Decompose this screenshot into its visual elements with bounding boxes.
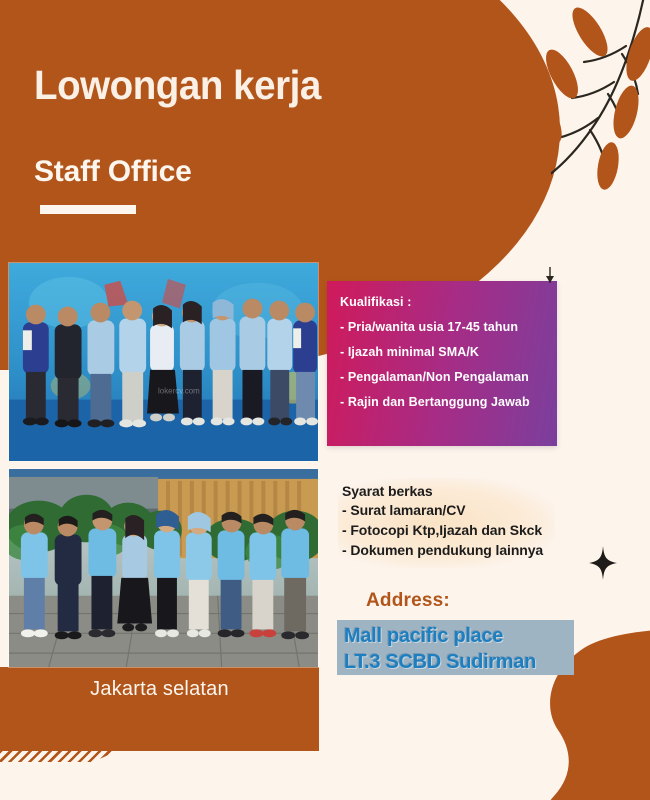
sparkle-icon <box>588 546 618 580</box>
pin-marker-icon <box>545 267 555 283</box>
documents-panel: Syarat berkas - Surat lamaran/CV - Fotoc… <box>338 478 555 568</box>
document-item-1: - Surat lamaran/CV <box>342 501 543 521</box>
job-poster: Lowongan kerja Staff Office <box>0 0 650 800</box>
group-photo-indoor: lokercv.com <box>8 262 319 462</box>
group-photo-outdoor <box>8 468 319 668</box>
address-line-1: Mall pacific place <box>344 624 567 650</box>
address-line-2: LT.3 SCBD Sudirman <box>344 650 567 676</box>
leaf-branch-icon <box>526 0 650 209</box>
address-label: Address: <box>366 590 450 612</box>
qualifications-heading: Kualifikasi : <box>340 295 545 309</box>
document-item-3: - Dokumen pendukung lainnya <box>342 541 543 561</box>
svg-text:lokercv.com: lokercv.com <box>158 387 200 396</box>
document-item-2: - Fotocopi Ktp,Ijazah dan Skck <box>342 521 543 541</box>
qualification-item-2: - Ijazah minimal SMA/K <box>340 345 545 359</box>
documents-heading: Syarat berkas <box>342 483 543 499</box>
location-text: Jakarta selatan <box>0 678 319 701</box>
address-box: Mall pacific place LT.3 SCBD Sudirman <box>337 620 574 675</box>
qualification-item-3: - Pengalaman/Non Pengalaman <box>340 370 545 384</box>
title-underline-rule <box>40 205 136 214</box>
position-subtitle: Staff Office <box>34 155 192 189</box>
qualifications-panel: Kualifikasi : - Pria/wanita usia 17-45 t… <box>327 281 557 446</box>
page-title: Lowongan kerja <box>34 62 321 109</box>
qualification-item-4: - Rajin dan Bertanggung Jawab <box>340 395 545 409</box>
qualification-item-1: - Pria/wanita usia 17-45 tahun <box>340 320 545 334</box>
